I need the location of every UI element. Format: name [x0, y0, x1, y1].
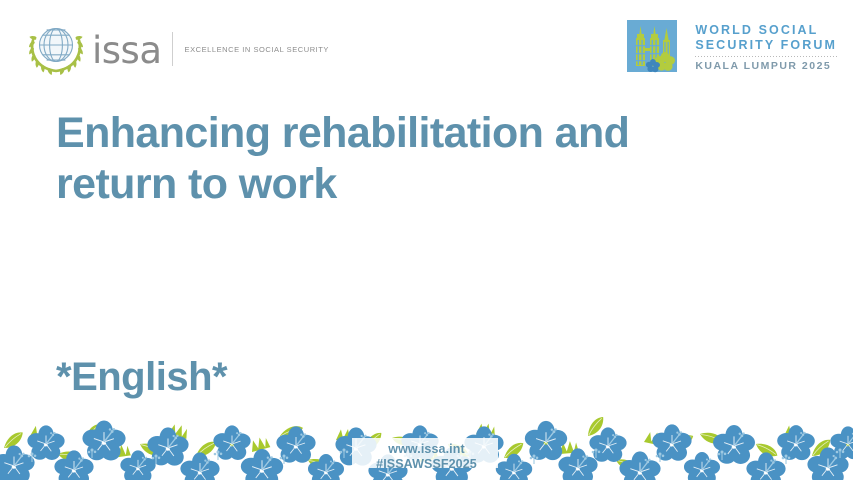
- wssf-location-year: KUALA LUMPUR 2025: [695, 60, 837, 73]
- wssf-title-line2: SECURITY FORUM: [695, 38, 837, 53]
- wssf-logo-text: WORLD SOCIAL SECURITY FORUM KUALA LUMPUR…: [695, 18, 837, 73]
- language-marker: *English*: [56, 354, 227, 400]
- wssf-logo: WORLD SOCIAL SECURITY FORUM KUALA LUMPUR…: [625, 18, 837, 80]
- globe-laurel-icon: [22, 21, 90, 77]
- slide-title: Enhancing rehabilitation and return to w…: [56, 108, 756, 210]
- wssf-title-line1: WORLD SOCIAL: [695, 23, 837, 38]
- petronas-towers-hibiscus-icon: [625, 18, 685, 78]
- presentation-slide: issa EXCELLENCE IN SOCIAL SECURITY: [0, 0, 853, 480]
- wssf-divider-rule: [695, 56, 837, 57]
- floral-border-decoration: [0, 414, 853, 480]
- issa-wordmark: issa: [92, 32, 162, 69]
- logo-divider: [172, 32, 173, 66]
- issa-tagline: EXCELLENCE IN SOCIAL SECURITY: [185, 45, 329, 54]
- issa-logo: issa EXCELLENCE IN SOCIAL SECURITY: [22, 20, 329, 78]
